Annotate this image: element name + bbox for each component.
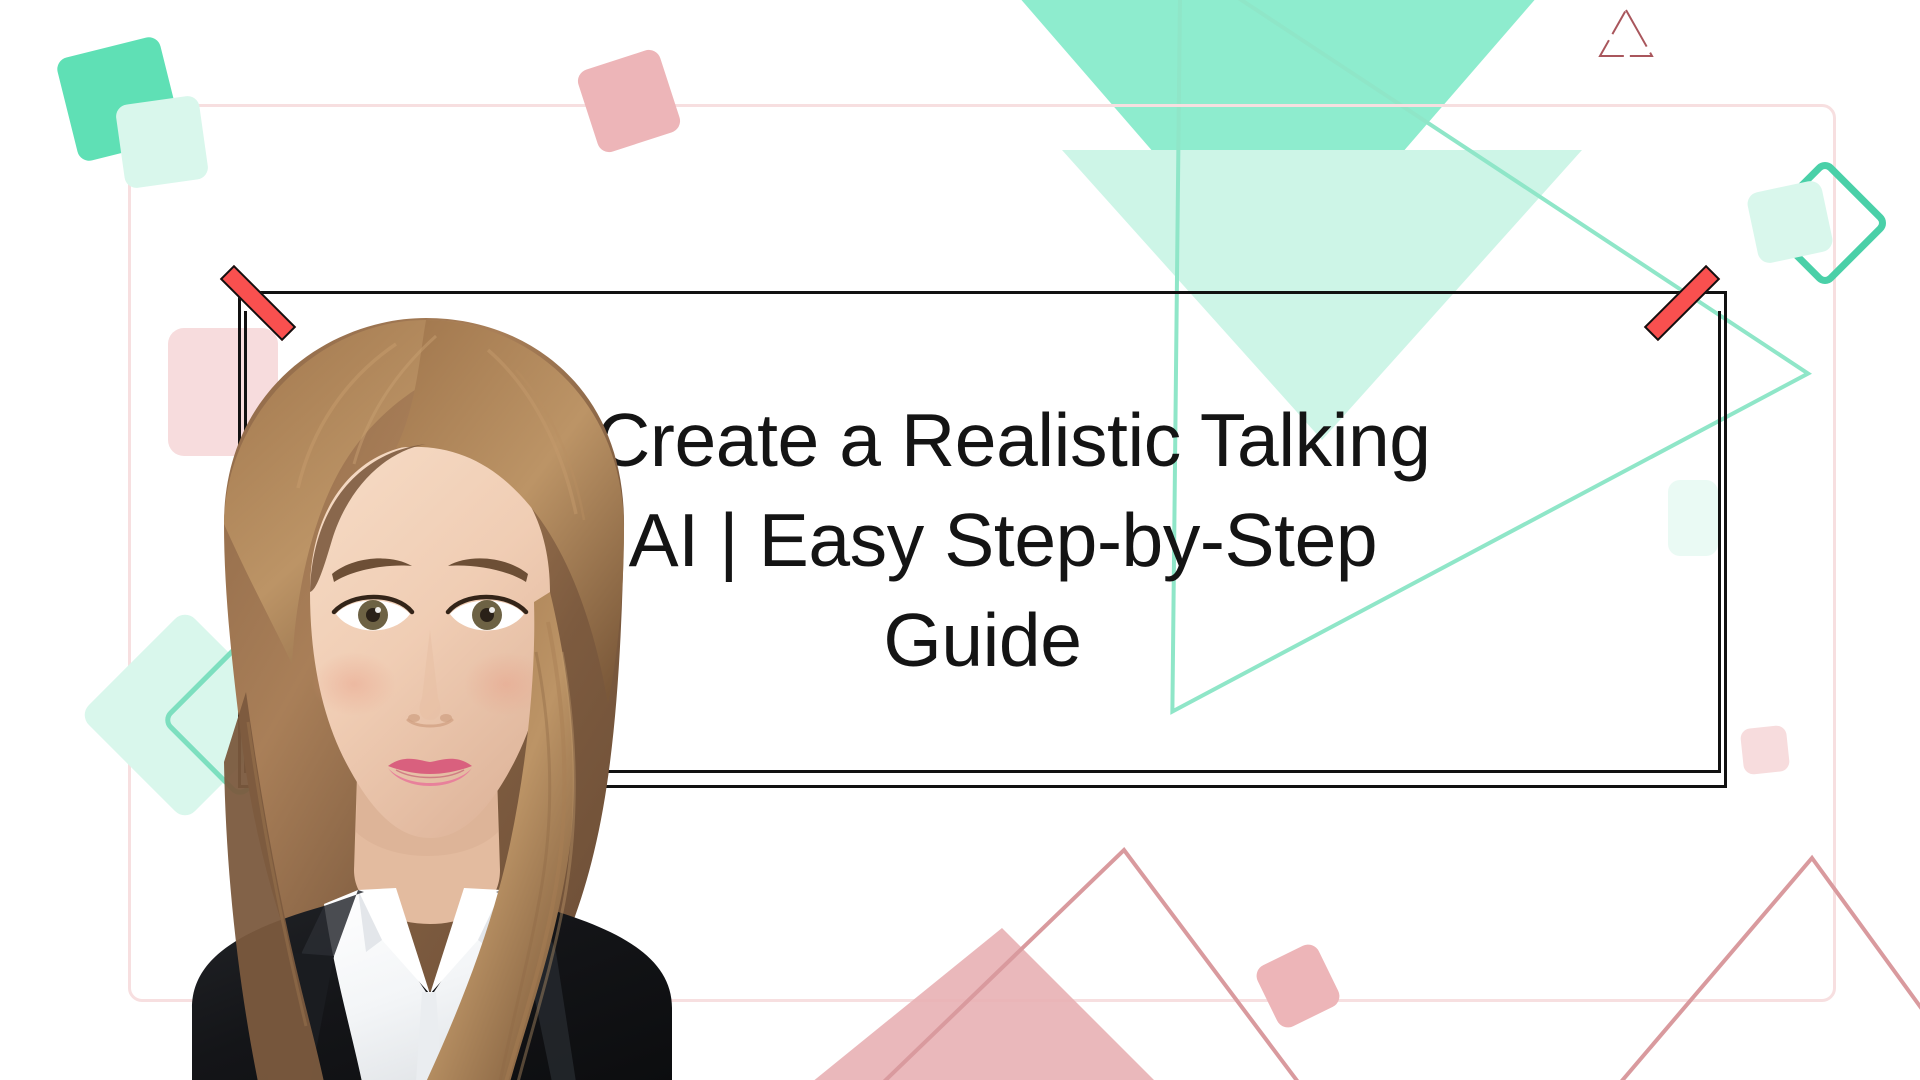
headline-line-3: Guide xyxy=(883,592,1081,688)
pink-triangle-bottom-solid xyxy=(752,928,1172,1080)
presenter-photo xyxy=(96,292,776,1080)
mint-square-top-left-pale xyxy=(115,95,210,190)
pink-square-top xyxy=(575,47,683,155)
thumbnail-canvas: o Create a Realistic Talking r AI | Easy… xyxy=(0,0,1920,1080)
maroon-triangle-outline xyxy=(1596,6,1656,66)
pink-square-bottom xyxy=(1253,941,1344,1032)
presenter-photo-illustration xyxy=(96,292,776,1080)
pink-triangle-outline-right xyxy=(1540,840,1920,1080)
mint-square-top-left xyxy=(55,35,183,163)
pink-triangle-outline-bottom xyxy=(824,840,1344,1080)
mint-triangle-top-solid xyxy=(1018,0,1538,296)
mint-square-pale-right xyxy=(1745,179,1834,265)
pink-square-right-low xyxy=(1740,725,1791,776)
mint-diamond-outline-right xyxy=(1760,158,1890,288)
